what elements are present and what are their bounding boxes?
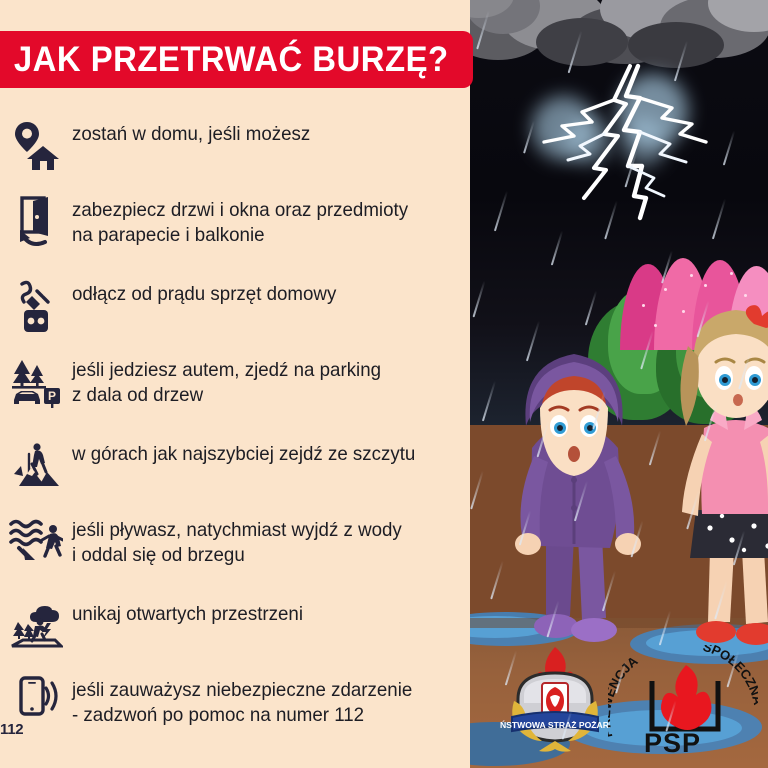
list-item: odłącz od prądu sprzęt domowy — [0, 278, 470, 348]
swimmer-waves-icon — [0, 514, 72, 566]
list-item-text: jeśli zauważysz niebezpieczne zdarzenie … — [72, 674, 412, 728]
open-door-icon — [0, 194, 72, 250]
hiker-mountain-icon — [0, 438, 72, 490]
list-item: P jeśli jedziesz autem, zjedź na parking… — [0, 354, 470, 432]
list-item: 112 jeśli zauważysz niebezpieczne zdarze… — [0, 674, 470, 752]
unplug-socket-icon — [0, 278, 72, 332]
list-item: w górach jak najszybciej zejdź ze szczyt… — [0, 438, 470, 508]
list-item-text: jeśli pływasz, natychmiast wyjdź z wody … — [72, 514, 402, 568]
psp-word: PSP — [644, 728, 701, 759]
location-house-icon — [0, 118, 72, 172]
list-item-text: jeśli jedziesz autem, zjedź na parking z… — [72, 354, 381, 408]
infographic-poster: PAŃSTWOWA STRAŻ POŻARNA PREWENCJA SPOŁEC… — [0, 0, 768, 768]
page-title: JAK PRZETRWAĆ BURZĘ? — [14, 40, 449, 80]
panstwowa-straz-pozarna-emblem: PAŃSTWOWA STRAŻ POŻARNA — [500, 645, 610, 755]
tips-panel: JAK PRZETRWAĆ BURZĘ? zostań w domu, jeśl… — [0, 0, 470, 768]
child-purple-raincoat — [512, 330, 642, 670]
car-parking-trees-icon: P — [0, 354, 72, 408]
phone-call-icon: 112 — [0, 674, 72, 738]
child-pink-top — [680, 300, 768, 670]
lightning-bolt-icon — [522, 60, 632, 210]
list-item: jeśli pływasz, natychmiast wyjdź z wody … — [0, 514, 470, 592]
emergency-number-label: 112 — [0, 721, 23, 738]
list-item: zostań w domu, jeśli możesz — [0, 118, 470, 188]
list-item: zabezpiecz drzwi i okna oraz przedmioty … — [0, 194, 470, 272]
emblem-banner-text: PAŃSTWOWA STRAŻ POŻARNA — [500, 720, 610, 730]
lightning-bolt-icon — [620, 62, 730, 222]
open-space-storm-icon — [0, 598, 72, 652]
storm-illustration: PAŃSTWOWA STRAŻ POŻARNA PREWENCJA SPOŁEC… — [470, 0, 768, 768]
list-item-text: zostań w domu, jeśli możesz — [72, 118, 310, 147]
list-item-text: zabezpiecz drzwi i okna oraz przedmioty … — [72, 194, 408, 248]
list-item: unikaj otwartych przestrzeni — [0, 598, 470, 668]
tips-list: zostań w domu, jeśli możesz zabezpiecz d… — [0, 118, 470, 758]
svg-text:P: P — [48, 389, 56, 403]
list-item-text: w górach jak najszybciej zejdź ze szczyt… — [72, 438, 415, 467]
list-item-text: odłącz od prądu sprzęt domowy — [72, 278, 336, 307]
list-item-text: unikaj otwartych przestrzeni — [72, 598, 303, 627]
title-banner: JAK PRZETRWAĆ BURZĘ? — [0, 31, 473, 88]
